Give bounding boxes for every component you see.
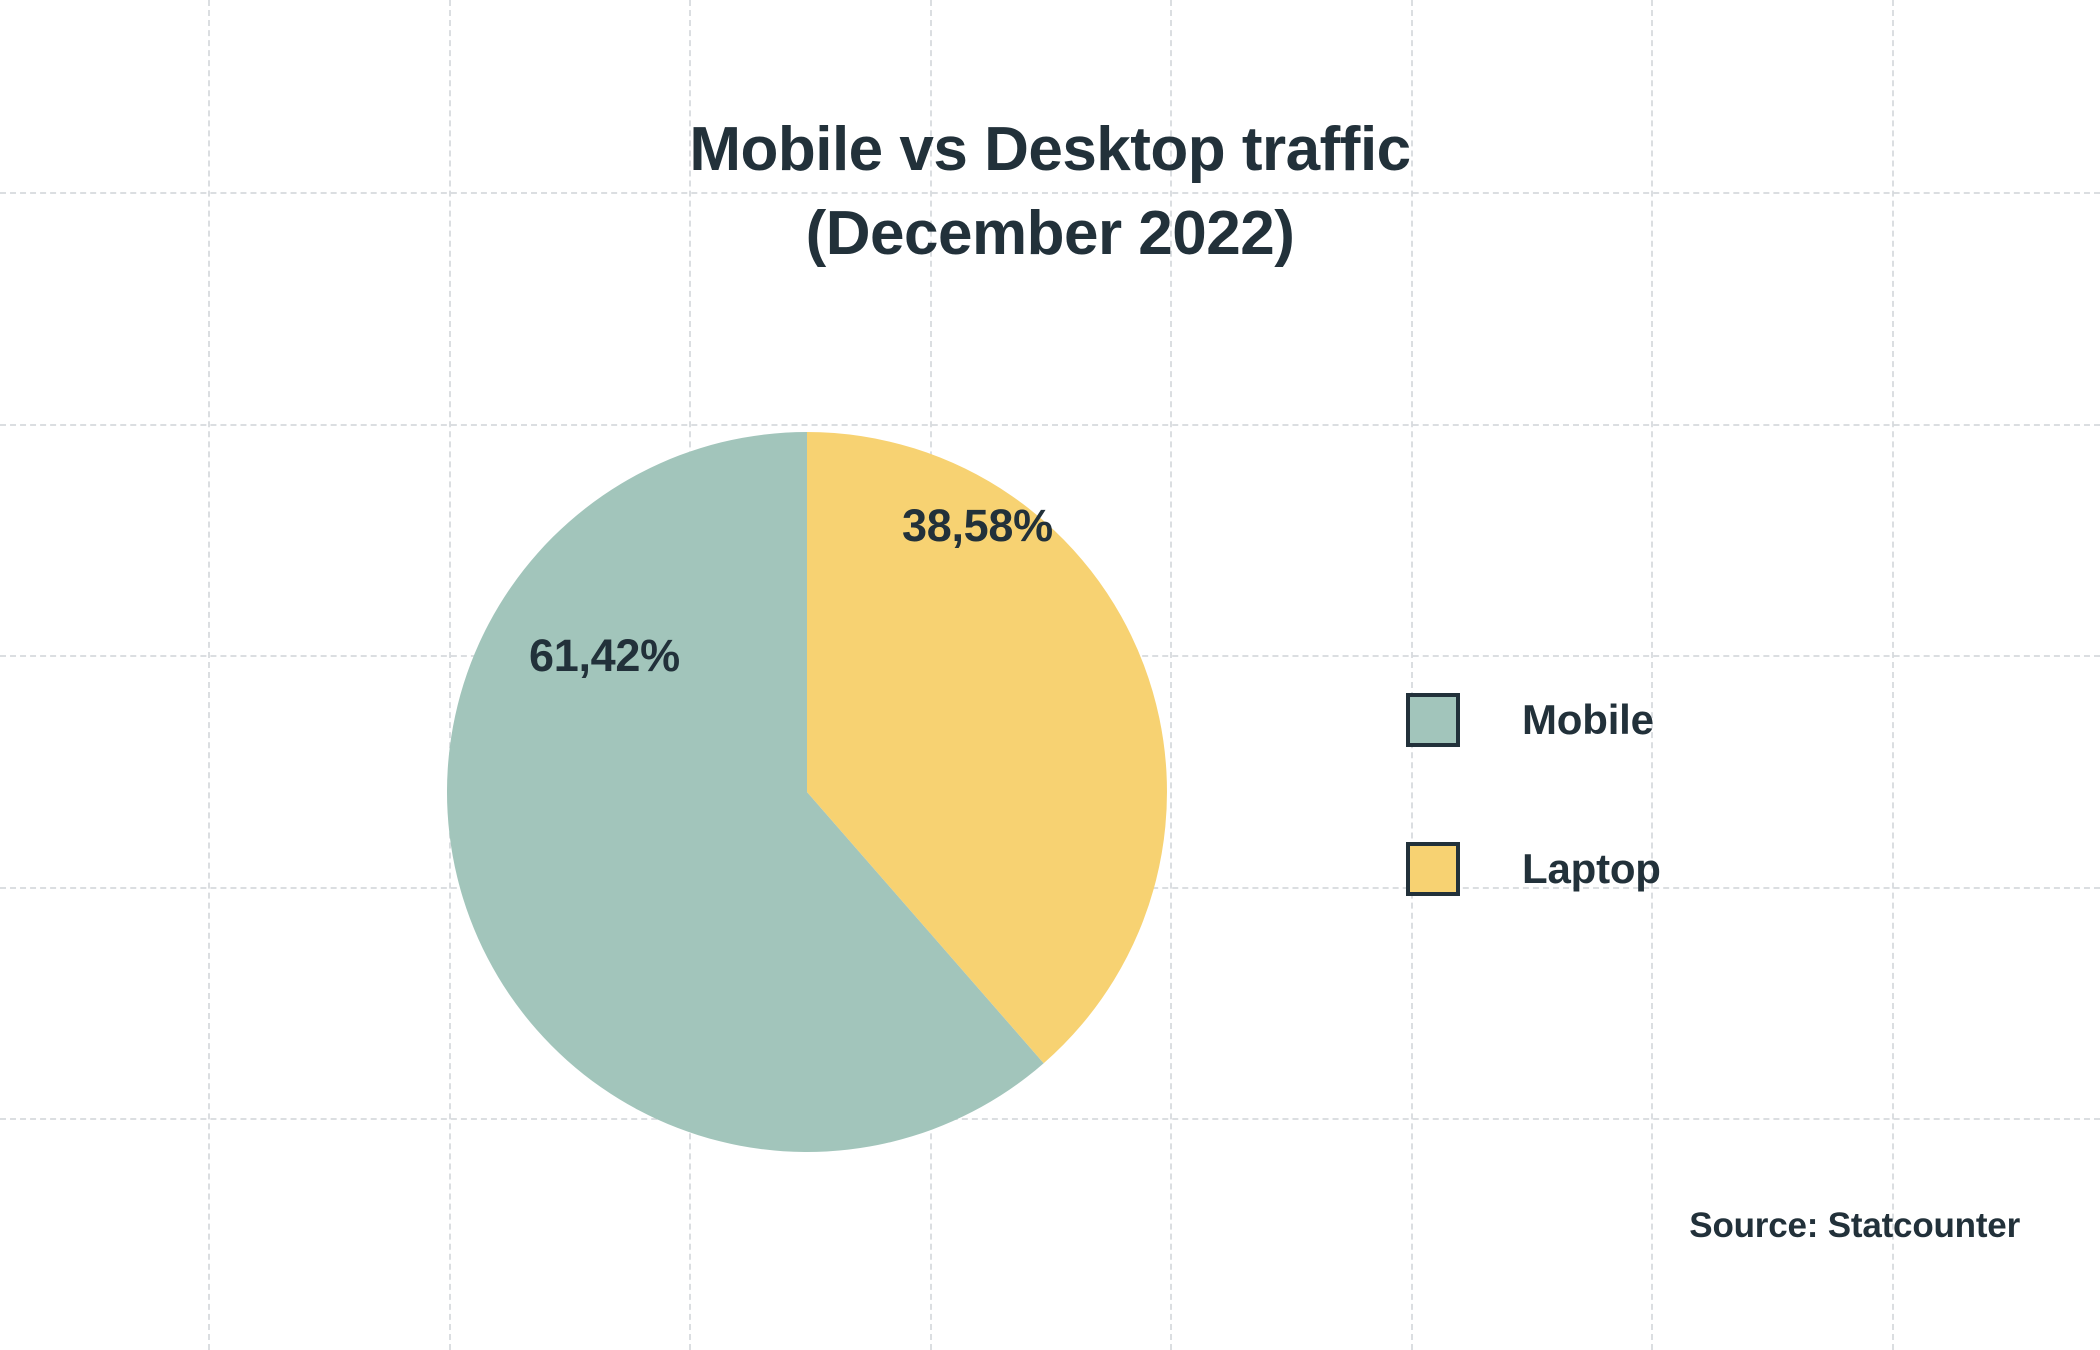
- chart-legend: Mobile Laptop: [1406, 690, 1661, 899]
- legend-item-mobile[interactable]: Mobile: [1406, 690, 1661, 750]
- legend-label-laptop: Laptop: [1522, 845, 1661, 893]
- pie-value-label-mobile: 61,42%: [529, 630, 680, 682]
- pie-chart: 38,58% 61,42%: [447, 432, 1167, 1152]
- pie-svg: [447, 432, 1167, 1152]
- pie-value-label-laptop: 38,58%: [902, 500, 1053, 552]
- legend-swatch-laptop: [1406, 842, 1460, 896]
- grid-line-horizontal: [0, 424, 2100, 426]
- chart-title: Mobile vs Desktop traffic (December 2022…: [0, 108, 2100, 277]
- legend-item-laptop[interactable]: Laptop: [1406, 839, 1661, 899]
- chart-title-line-2: (December 2022): [0, 192, 2100, 276]
- source-attribution: Source: Statcounter: [1689, 1206, 2020, 1246]
- chart-canvas: Mobile vs Desktop traffic (December 2022…: [0, 0, 2100, 1350]
- chart-title-line-1: Mobile vs Desktop traffic: [0, 108, 2100, 192]
- legend-swatch-mobile: [1406, 693, 1460, 747]
- legend-label-mobile: Mobile: [1522, 696, 1654, 744]
